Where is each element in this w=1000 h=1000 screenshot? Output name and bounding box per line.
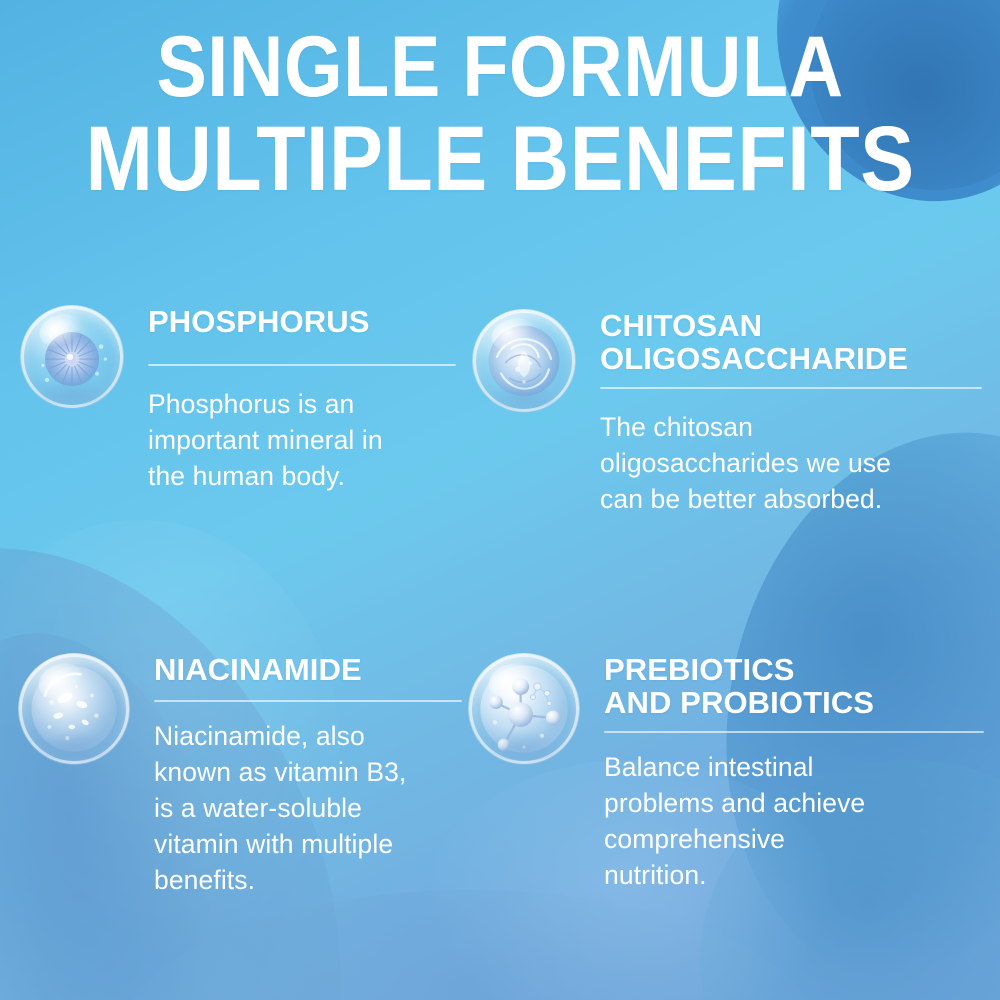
orb-inner-shadow bbox=[486, 731, 562, 760]
feature-chitosan-oligosaccharide: CHITOSAN OLIGOSACCHARIDE The chitosan ol… bbox=[472, 309, 984, 517]
feature-prebiotics-and-probiotics: PREBIOTICS AND PROBIOTICS Balance intest… bbox=[468, 653, 984, 893]
feature-text-prebiotics-and-probiotics: PREBIOTICS AND PROBIOTICS Balance intest… bbox=[580, 653, 984, 893]
feature-title: PREBIOTICS AND PROBIOTICS bbox=[604, 653, 984, 719]
crystal-orb-icon bbox=[20, 305, 124, 409]
feature-grid: PHOSPHORUS Phosphorus is an important mi… bbox=[0, 305, 1000, 995]
feature-divider bbox=[600, 387, 982, 389]
feature-text-chitosan-oligosaccharide: CHITOSAN OLIGOSACCHARIDE The chitosan ol… bbox=[576, 309, 984, 517]
feature-description: Balance intestinal problems and achieve … bbox=[604, 749, 994, 893]
orb-inner-shadow bbox=[36, 731, 112, 760]
feature-text-phosphorus: PHOSPHORUS Phosphorus is an important mi… bbox=[124, 305, 470, 494]
feature-divider bbox=[154, 700, 462, 702]
molecule-orb-icon bbox=[468, 653, 580, 765]
orb-inner-shadow bbox=[37, 378, 108, 405]
feature-description: The chitosan oligosaccharides we use can… bbox=[600, 409, 992, 517]
headline-line-2: MULTIPLE BENEFITS bbox=[60, 115, 940, 204]
feature-title: CHITOSAN OLIGOSACCHARIDE bbox=[600, 309, 984, 375]
feature-divider bbox=[148, 364, 456, 366]
feature-title: PHOSPHORUS bbox=[148, 305, 470, 338]
headline-line-1: SINGLE FORMULA bbox=[60, 26, 940, 109]
page-title: SINGLE FORMULA MULTIPLE BENEFITS bbox=[0, 26, 1000, 205]
swirl-orb-icon bbox=[472, 309, 576, 413]
feature-description: Phosphorus is an important mineral in th… bbox=[148, 386, 468, 494]
bubble-orb-icon bbox=[18, 653, 130, 765]
feature-description: Niacinamide, also known as vitamin B3, i… bbox=[154, 718, 484, 898]
orb-inner-shadow bbox=[489, 382, 560, 409]
feature-divider bbox=[604, 731, 984, 733]
product-benefits-poster: SINGLE FORMULA MULTIPLE BENEFITS bbox=[0, 0, 1000, 1000]
feature-title: NIACINAMIDE bbox=[154, 653, 468, 686]
feature-text-niacinamide: NIACINAMIDE Niacinamide, also known as v… bbox=[130, 653, 468, 898]
feature-phosphorus: PHOSPHORUS Phosphorus is an important mi… bbox=[20, 305, 470, 494]
feature-niacinamide: NIACINAMIDE Niacinamide, also known as v… bbox=[18, 653, 468, 898]
